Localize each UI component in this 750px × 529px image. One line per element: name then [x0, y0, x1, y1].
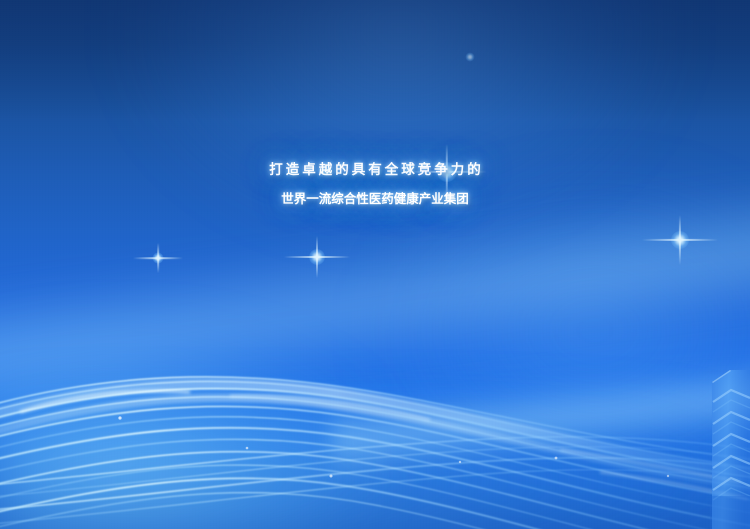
sparkle-icon-4: [130, 230, 186, 286]
sparkle-icon-2: [405, 130, 489, 214]
background-glow-center-top: [120, 0, 680, 240]
headline-block: 打造卓越的具有全球竞争力的 世界一流综合性医药健康产业集团: [0, 163, 750, 205]
top-shade-overlay: [0, 0, 750, 120]
sparkle-icon-1: [282, 222, 352, 292]
background-glow-bottom-wide: [0, 400, 750, 529]
headline-line-1: 打造卓越的具有全球竞争力的: [0, 163, 750, 177]
sparkle-icon-3: [640, 200, 720, 280]
diagonal-light-band-secondary: [329, 352, 750, 476]
sparkle-icon-5: [457, 44, 483, 70]
noise-overlay: [0, 0, 750, 529]
background-glow-mid-right: [380, 180, 750, 480]
diagonal-light-band: [0, 167, 750, 429]
headline-line-2: 世界一流综合性医药健康产业集团: [0, 193, 750, 206]
hero-banner: 打造卓越的具有全球竞争力的 世界一流综合性医药健康产业集团: [0, 0, 750, 529]
flowing-wave-streaks: [0, 300, 750, 529]
chevron-tower-graphic: [710, 368, 750, 529]
background-glow-bottom-left: [0, 330, 380, 529]
